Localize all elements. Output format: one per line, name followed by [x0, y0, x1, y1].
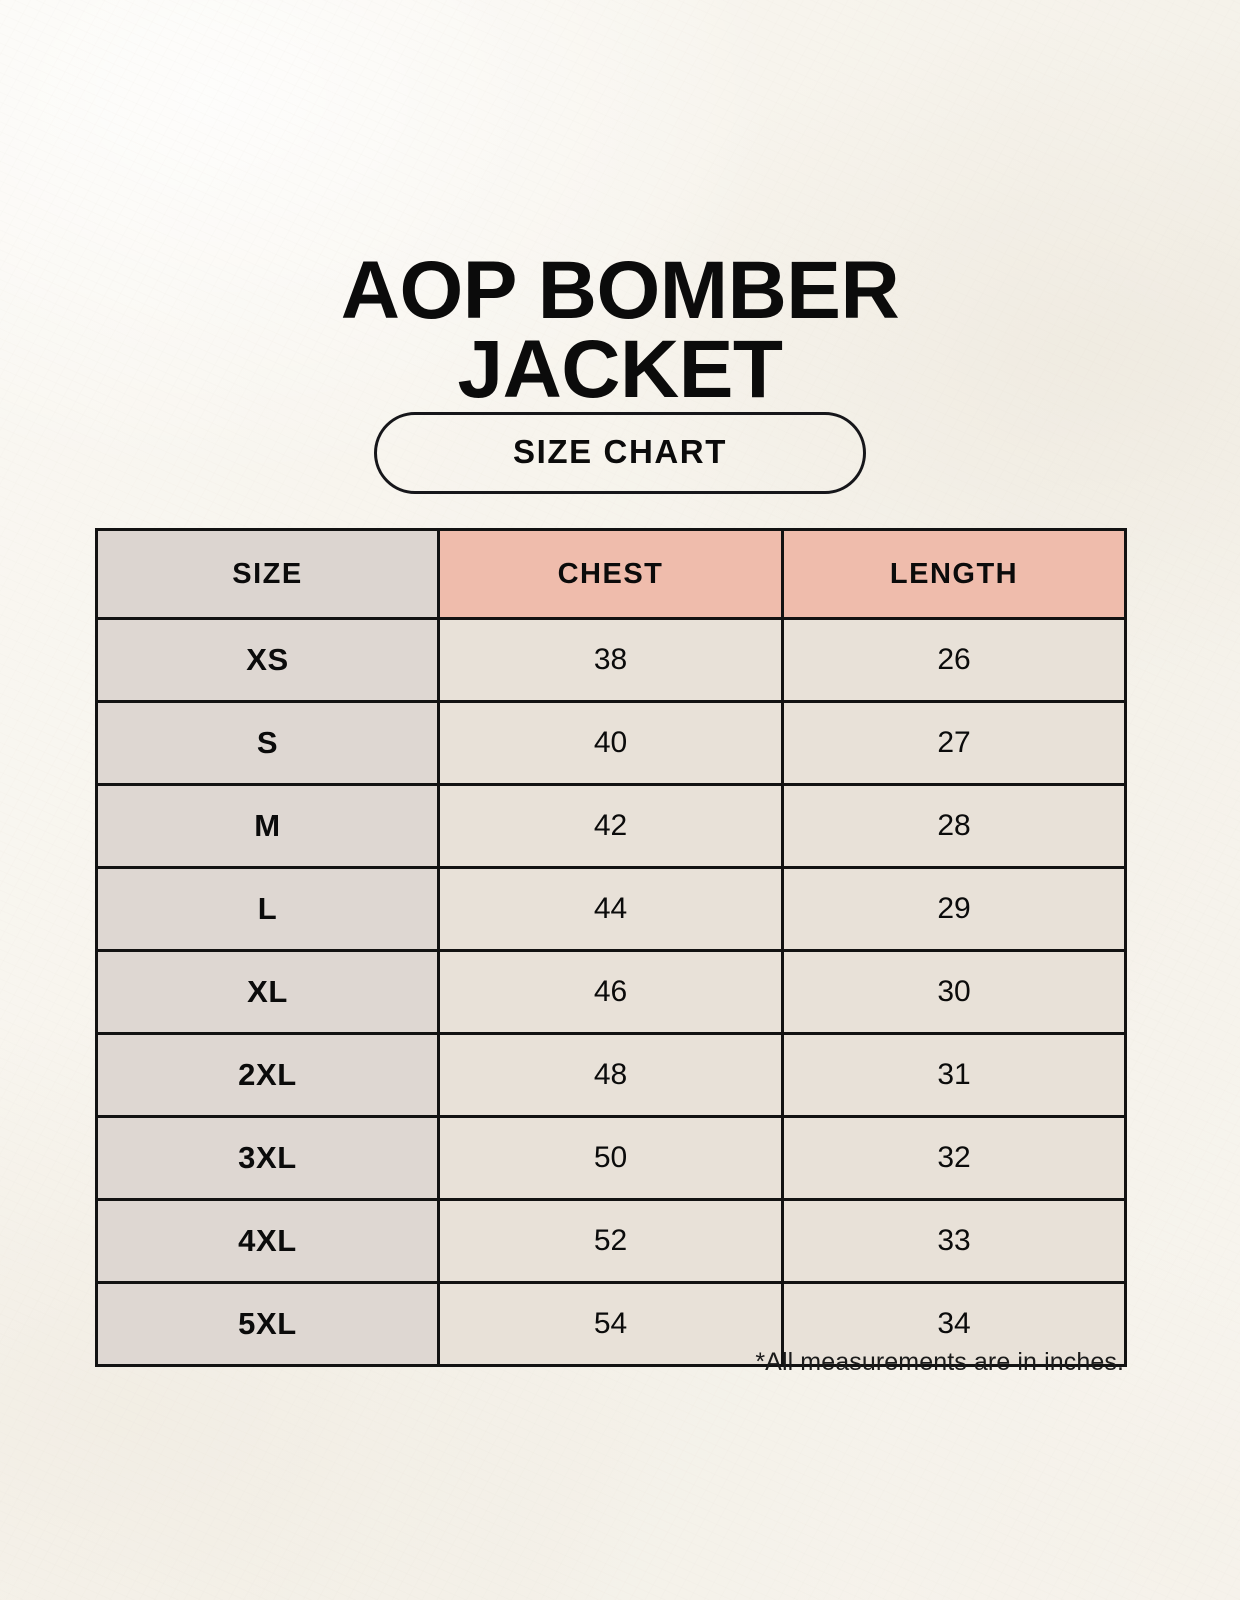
cell-length: 29 — [783, 868, 1126, 951]
cell-chest: 48 — [439, 1034, 783, 1117]
table-row: S 40 27 — [97, 702, 1126, 785]
cell-chest: 38 — [439, 619, 783, 702]
table-row: XS 38 26 — [97, 619, 1126, 702]
table-row: XL 46 30 — [97, 951, 1126, 1034]
cell-size: 2XL — [97, 1034, 439, 1117]
table-header-row: SIZE CHEST LENGTH — [97, 530, 1126, 619]
column-header-length: LENGTH — [783, 530, 1126, 619]
cell-size: S — [97, 702, 439, 785]
size-chart-page: AOP BOMBER JACKET SIZE CHART SIZE CHEST … — [0, 0, 1240, 1600]
size-chart-badge: SIZE CHART — [374, 412, 866, 494]
cell-chest: 46 — [439, 951, 783, 1034]
table-row: 4XL 52 33 — [97, 1200, 1126, 1283]
cell-size: 4XL — [97, 1200, 439, 1283]
cell-chest: 40 — [439, 702, 783, 785]
cell-length: 32 — [783, 1117, 1126, 1200]
column-header-chest: CHEST — [439, 530, 783, 619]
cell-length: 30 — [783, 951, 1126, 1034]
table-row: 2XL 48 31 — [97, 1034, 1126, 1117]
cell-length: 28 — [783, 785, 1126, 868]
cell-length: 33 — [783, 1200, 1126, 1283]
cell-size: XL — [97, 951, 439, 1034]
cell-length: 26 — [783, 619, 1126, 702]
cell-chest: 52 — [439, 1200, 783, 1283]
cell-size: XS — [97, 619, 439, 702]
measurement-note: *All measurements are in inches. — [95, 1348, 1124, 1377]
cell-length: 27 — [783, 702, 1126, 785]
cell-chest: 44 — [439, 868, 783, 951]
table-row: L 44 29 — [97, 868, 1126, 951]
cell-size: 3XL — [97, 1117, 439, 1200]
size-chart-table: SIZE CHEST LENGTH XS 38 26 S 40 27 M — [95, 528, 1127, 1367]
badge-container: SIZE CHART — [0, 412, 1240, 494]
table-row: 3XL 50 32 — [97, 1117, 1126, 1200]
table-row: M 42 28 — [97, 785, 1126, 868]
cell-chest: 50 — [439, 1117, 783, 1200]
cell-length: 31 — [783, 1034, 1126, 1117]
column-header-size: SIZE — [97, 530, 439, 619]
cell-chest: 42 — [439, 785, 783, 868]
page-title: AOP BOMBER JACKET — [0, 251, 1240, 410]
cell-size: L — [97, 868, 439, 951]
cell-size: M — [97, 785, 439, 868]
